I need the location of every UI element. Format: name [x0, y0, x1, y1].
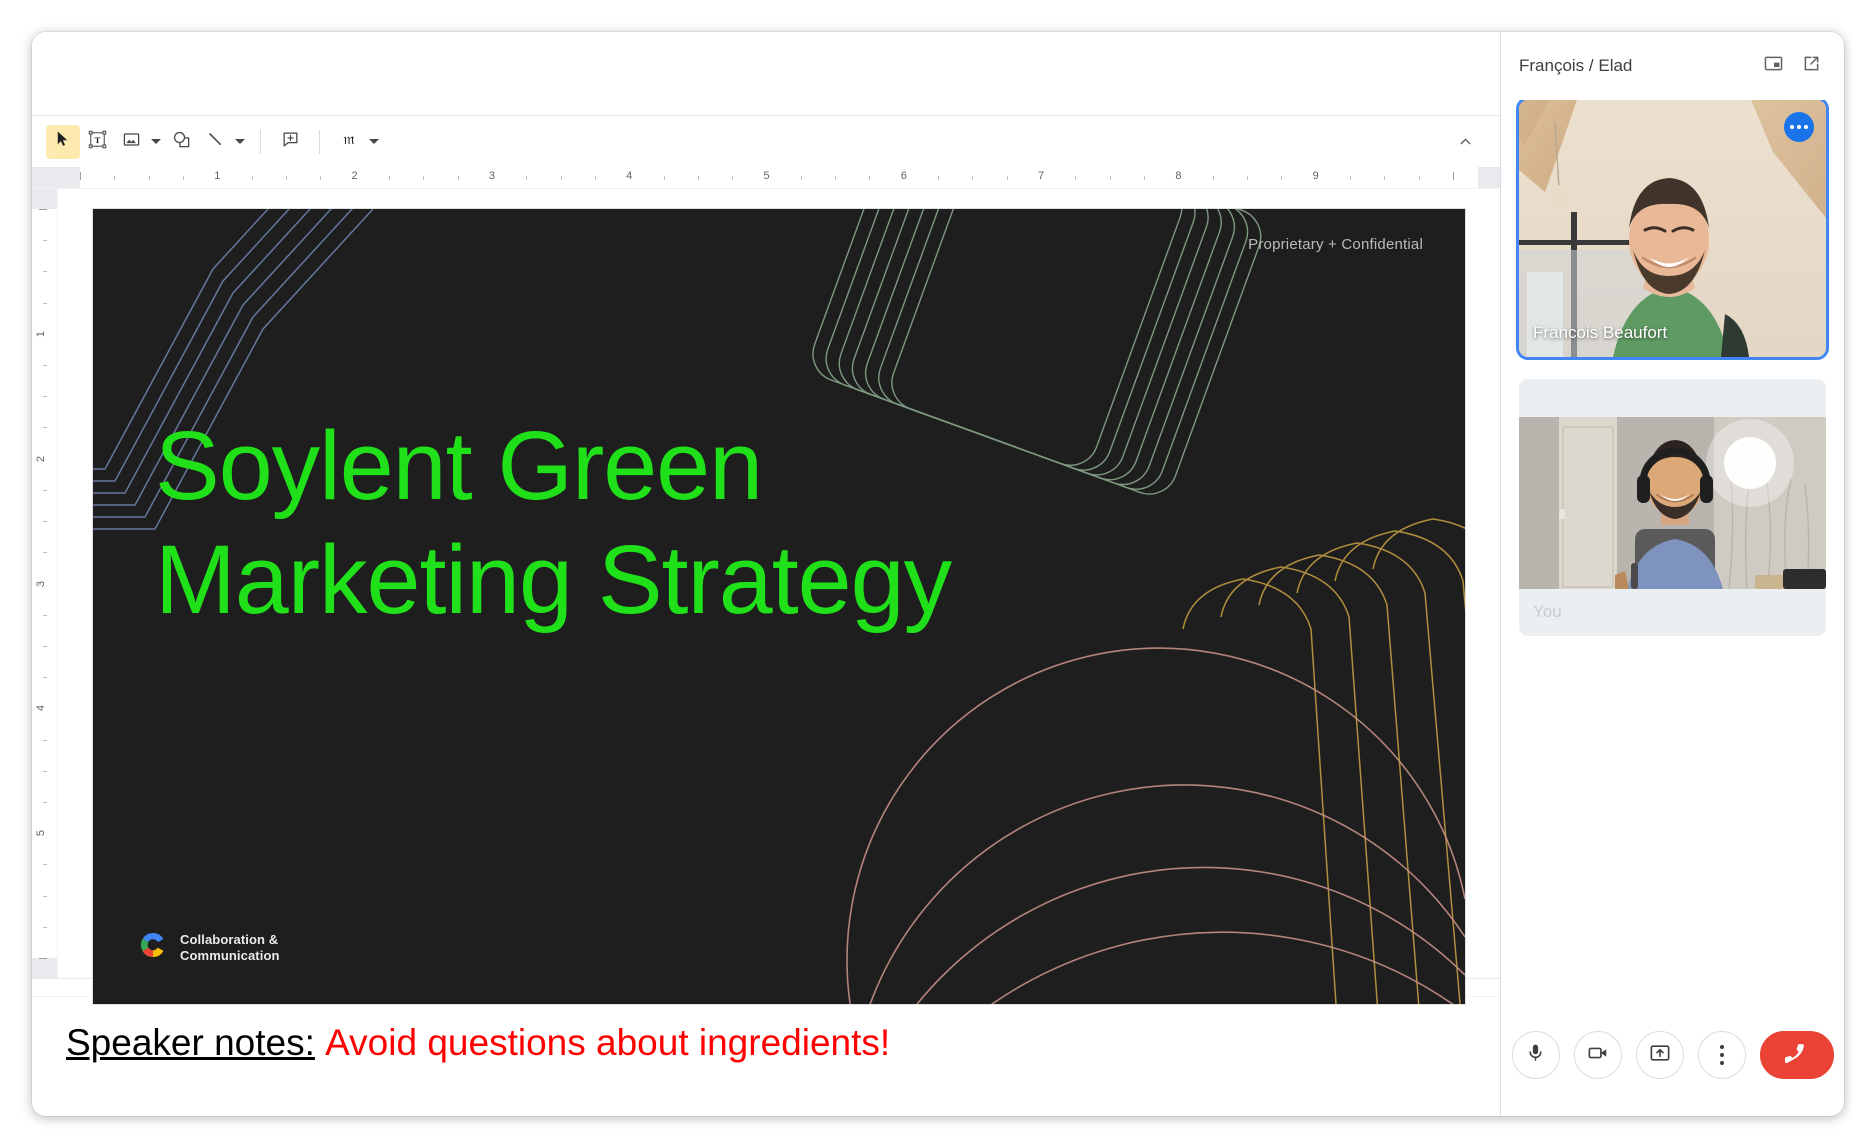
- toolbar-divider-2: [319, 130, 320, 154]
- ruler-number: 1: [35, 331, 47, 337]
- open-in-new-window-button[interactable]: [1794, 49, 1828, 83]
- ruler-tick: [1007, 176, 1008, 180]
- chevron-up-icon[interactable]: [1450, 127, 1480, 157]
- speaker-notes-body[interactable]: Avoid questions about ingredients!: [325, 1022, 890, 1063]
- application-window: T: [32, 32, 1844, 1116]
- camera-button[interactable]: [1574, 1031, 1622, 1079]
- participant-tile-francois[interactable]: Francois Beaufort: [1519, 100, 1826, 357]
- ruler-tick: [1453, 172, 1454, 180]
- ruler-tick: [732, 176, 733, 180]
- more-options-button[interactable]: [1698, 1031, 1746, 1079]
- participant-tile-you[interactable]: You: [1519, 379, 1826, 636]
- svg-text:T: T: [94, 134, 100, 144]
- ruler-number: 3: [35, 580, 47, 586]
- ruler-tick: [183, 176, 184, 180]
- ruler-tick: [80, 172, 81, 180]
- editor-top-strip: [32, 32, 1500, 115]
- slide-title[interactable]: Soylent Green Marketing Strategy: [155, 409, 1275, 638]
- shape-icon: [172, 130, 191, 154]
- ruler-tick: [43, 927, 47, 928]
- line-icon: [206, 130, 225, 154]
- ruler-tick: [1110, 176, 1111, 180]
- leave-call-button[interactable]: [1760, 1031, 1834, 1079]
- ruler-tick: [595, 176, 596, 180]
- svg-text:𝔪: 𝔪: [343, 132, 354, 148]
- ruler-tick: [43, 802, 47, 803]
- ruler-margin-top: [32, 189, 57, 209]
- ruler-tick: [43, 896, 47, 897]
- ruler-number: 5: [35, 830, 47, 836]
- ruler-number: 2: [35, 456, 47, 462]
- participant-tiles: Francois Beaufort: [1501, 100, 1844, 1004]
- ruler-tick: [43, 740, 47, 741]
- meet-panel-header: François / Elad: [1501, 32, 1844, 100]
- participant-name-label: Francois Beaufort: [1533, 323, 1667, 343]
- ruler-margin-left: [58, 167, 80, 188]
- line-tool-button[interactable]: [198, 125, 232, 159]
- ruler-tick: [1144, 176, 1145, 180]
- ruler-number: 7: [1038, 170, 1044, 182]
- ruler-tick: [43, 771, 47, 772]
- image-icon: [122, 130, 141, 154]
- ruler-tick: [698, 176, 699, 180]
- ruler-tick: [1247, 176, 1248, 180]
- pen-curve-icon: 𝔪: [339, 129, 359, 154]
- slides-editor-pane: T: [32, 32, 1501, 1116]
- microphone-icon: [1525, 1042, 1546, 1068]
- meet-call-title: François / Elad: [1519, 56, 1752, 76]
- ruler-tick: [39, 209, 47, 210]
- ruler-tick: [286, 176, 287, 180]
- ruler-corner: [32, 167, 58, 188]
- canvas-area: 12345: [32, 189, 1500, 978]
- ruler-tick: [938, 176, 939, 180]
- add-comment-button[interactable]: [273, 125, 307, 159]
- ruler-number: 5: [763, 170, 769, 182]
- ruler-tick: [1075, 176, 1076, 180]
- ruler-tick: [1350, 176, 1351, 180]
- ruler-tick: [252, 176, 253, 180]
- ruler-tick: [320, 176, 321, 180]
- vertical-ruler[interactable]: 12345: [32, 189, 58, 978]
- ruler-tick: [43, 490, 47, 491]
- participant-video-francois: [1519, 100, 1826, 357]
- ruler-number: 2: [352, 170, 358, 182]
- ruler-margin-bottom: [32, 958, 57, 978]
- ruler-tick: [1419, 176, 1420, 180]
- ruler-tick: [389, 176, 390, 180]
- ruler-tick: [561, 176, 562, 180]
- ruler-tick: [39, 958, 47, 959]
- ruler-tick: [43, 396, 47, 397]
- ruler-number: 3: [489, 170, 495, 182]
- ruler-tick: [972, 176, 973, 180]
- ruler-tick: [149, 176, 150, 180]
- ruler-tick: [43, 677, 47, 678]
- more-options-icon[interactable]: [1784, 112, 1814, 142]
- ruler-tick: [43, 864, 47, 865]
- meet-control-bar: [1501, 1004, 1844, 1116]
- text-box-icon: T: [88, 130, 107, 154]
- toolbar-divider-1: [260, 130, 261, 154]
- textbox-tool-button[interactable]: T: [80, 125, 114, 159]
- ruler-tick: [835, 176, 836, 180]
- slide-canvas[interactable]: Proprietary + Confidential Soylent Green…: [93, 209, 1465, 1004]
- select-tool-button[interactable]: [46, 125, 80, 159]
- ruler-tick: [526, 176, 527, 180]
- present-to-all-icon: [1649, 1042, 1671, 1069]
- ruler-tick: [1213, 176, 1214, 180]
- hang-up-icon: [1783, 1039, 1810, 1071]
- video-camera-icon: [1587, 1042, 1609, 1069]
- ruler-number: 1: [214, 170, 220, 182]
- add-comment-icon: [281, 130, 300, 154]
- present-screen-button[interactable]: [1636, 1031, 1684, 1079]
- confidential-label: Proprietary + Confidential: [1248, 236, 1423, 253]
- ruler-number: 9: [1313, 170, 1319, 182]
- participant-name-label: You: [1533, 602, 1562, 622]
- ruler-tick: [43, 427, 47, 428]
- more-vertical-icon: [1720, 1045, 1724, 1065]
- line-tool-dropdown[interactable]: [232, 125, 248, 159]
- ruler-number: 4: [35, 705, 47, 711]
- ruler-tick: [43, 646, 47, 647]
- ruler-number: 6: [901, 170, 907, 182]
- ruler-tick: [869, 176, 870, 180]
- ruler-tick: [43, 365, 47, 366]
- speaker-notes-label: Speaker notes:: [66, 1022, 315, 1063]
- ruler-tick: [43, 303, 47, 304]
- ruler-tick: [43, 521, 47, 522]
- horizontal-ruler-track[interactable]: 123456789: [58, 167, 1500, 188]
- ruler-tick: [43, 240, 47, 241]
- ruler-tick: [423, 176, 424, 180]
- ruler-number: 4: [626, 170, 632, 182]
- ruler-tick: [114, 176, 115, 180]
- ruler-tick: [43, 271, 47, 272]
- ruler-margin-right: [1478, 167, 1500, 188]
- ruler-tick: [664, 176, 665, 180]
- ruler-number: 8: [1175, 170, 1181, 182]
- picture-in-picture-button[interactable]: [1756, 49, 1790, 83]
- ruler-tick: [1384, 176, 1385, 180]
- cursor-arrow-icon: [54, 130, 72, 153]
- microphone-button[interactable]: [1512, 1031, 1560, 1079]
- speaker-notes-text[interactable]: Speaker notes: Avoid questions about ing…: [66, 1023, 1470, 1064]
- horizontal-ruler[interactable]: 123456789: [32, 167, 1500, 189]
- image-tool-button[interactable]: [114, 125, 148, 159]
- image-tool-dropdown[interactable]: [148, 125, 164, 159]
- slide-canvas-wrapper: Proprietary + Confidential Soylent Green…: [58, 189, 1500, 978]
- curve-tool-dropdown[interactable]: [366, 125, 382, 159]
- slide-logo: Collaboration & Communication: [137, 929, 280, 966]
- slides-toolbar: T: [32, 115, 1500, 167]
- meet-side-panel: François / Elad: [1501, 32, 1844, 1116]
- slide-logo-text: Collaboration & Communication: [180, 932, 280, 964]
- ruler-tick: [1281, 176, 1282, 180]
- speaker-notes-pane[interactable]: Speaker notes: Avoid questions about ing…: [32, 996, 1500, 1116]
- open-in-new-icon: [1801, 53, 1822, 79]
- curve-tool-button[interactable]: 𝔪: [332, 125, 366, 159]
- ruler-tick: [458, 176, 459, 180]
- participant-video-you: [1519, 379, 1826, 636]
- ruler-tick: [43, 615, 47, 616]
- google-c-logo-icon: [137, 929, 169, 966]
- shape-tool-button[interactable]: [164, 125, 198, 159]
- ruler-tick: [43, 552, 47, 553]
- picture-in-picture-icon: [1763, 53, 1784, 79]
- ruler-tick: [801, 176, 802, 180]
